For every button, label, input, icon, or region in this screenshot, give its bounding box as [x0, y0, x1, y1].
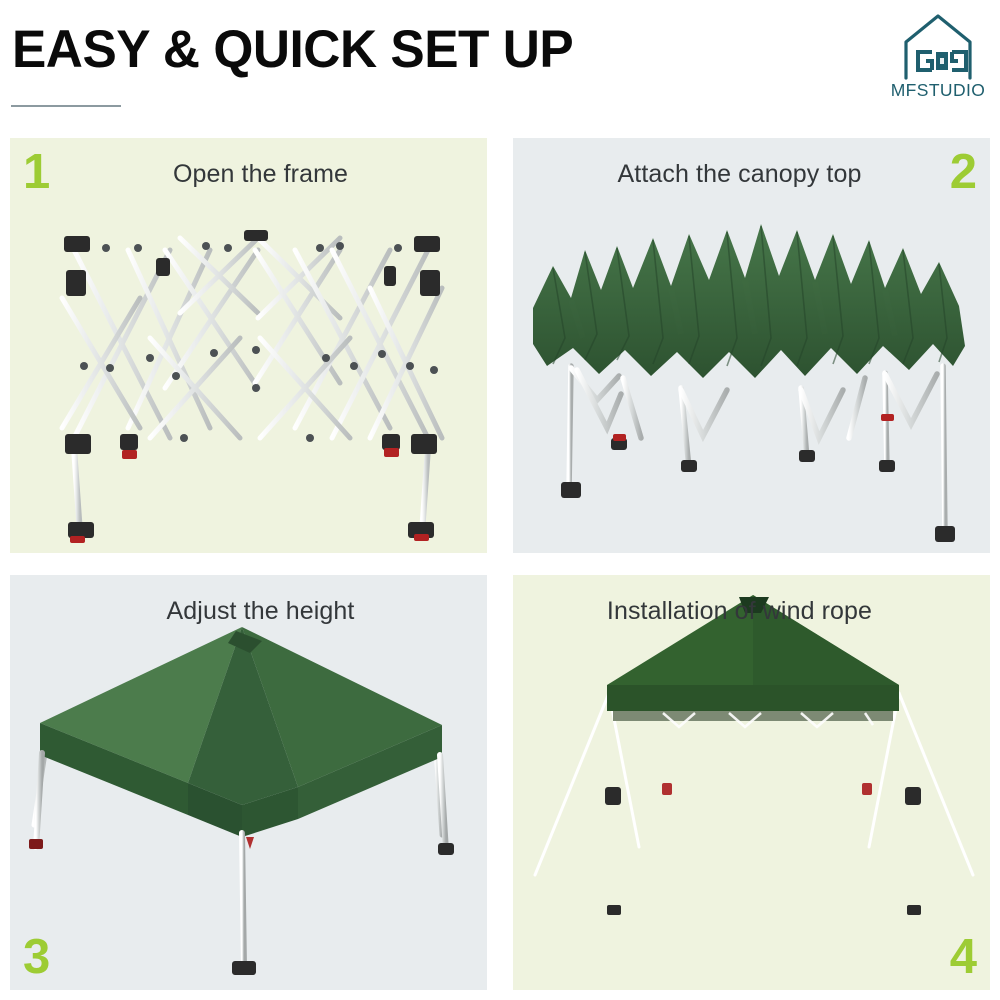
step-label-4: Installation of wind rope: [513, 597, 990, 626]
title-underline-divider: [11, 105, 121, 107]
brand-name: MFSTUDIO: [884, 81, 992, 100]
steps-grid: 1 Open the frame: [10, 138, 990, 990]
valance: [607, 685, 899, 711]
step-label-2: Attach the canopy top: [513, 160, 990, 189]
step-label-3: Adjust the height: [10, 597, 487, 626]
folded-scissor-frame-illustration: [10, 138, 487, 553]
step-number-4: 4: [950, 933, 977, 982]
setup-instruction-infographic: EASY & QUICK SET UP MFSTUDIO 1 O: [0, 0, 1000, 1000]
step-panel-2[interactable]: 2 Attach the canopy top: [513, 138, 990, 553]
step-number-3: 3: [23, 933, 50, 982]
brand-logo: MFSTUDIO: [884, 12, 992, 104]
step-panel-1[interactable]: 1 Open the frame: [10, 138, 487, 553]
draped-canopy-top-illustration: [513, 138, 990, 553]
step-label-1: Open the frame: [10, 160, 487, 189]
assembled-canopy-isometric-illustration: [10, 575, 487, 990]
house-monogram-icon: [896, 12, 980, 80]
page-title: EASY & QUICK SET UP: [12, 20, 573, 80]
header: EASY & QUICK SET UP MFSTUDIO: [0, 0, 1000, 118]
step-panel-4[interactable]: 4 Installation of wind rope: [513, 575, 990, 990]
canopy-with-guy-ropes-illustration: [513, 575, 990, 990]
step-panel-3[interactable]: 3 Adjust the height: [10, 575, 487, 990]
